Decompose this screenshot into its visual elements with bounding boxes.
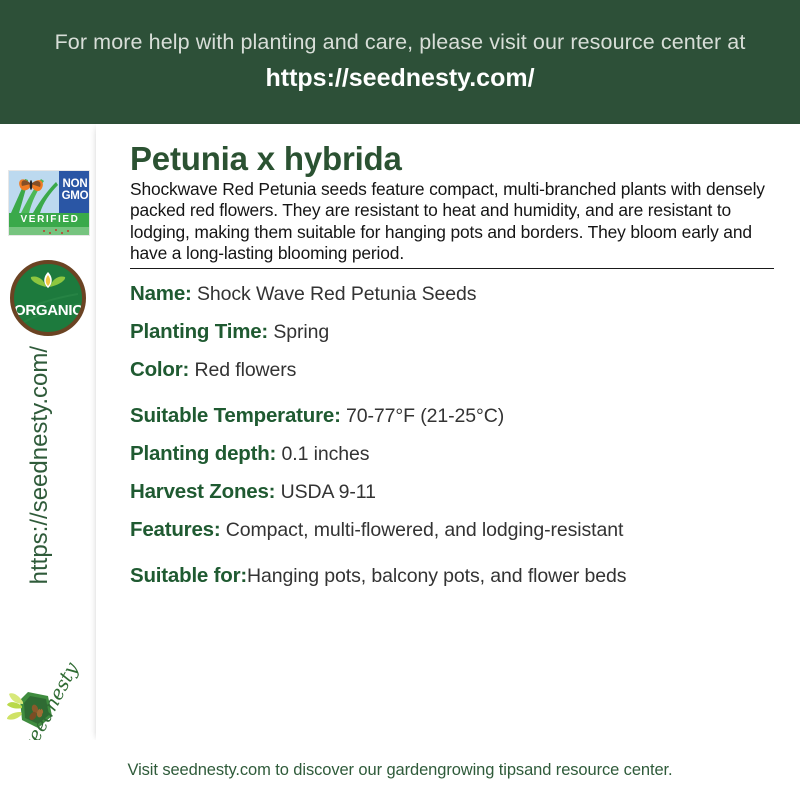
spec-value: Hanging pots, balcony pots, and flower b… (247, 565, 626, 587)
product-spec-list: Name: Shock Wave Red Petunia SeedsPlanti… (130, 282, 774, 588)
spec-value: Shock Wave Red Petunia Seeds (192, 283, 477, 305)
spec-label: Suitable Temperature: (130, 404, 341, 427)
spec-label: Harvest Zones: (130, 480, 275, 503)
spec-row: Planting depth: 0.1 inches (130, 442, 774, 466)
sidebar-vertical-url[interactable]: https://seednesty.com/ (26, 46, 54, 346)
spec-value: 70-77°F (21-25°C) (341, 405, 504, 427)
spec-label: Name: (130, 282, 192, 305)
sidebar-vertical-url-text: https://seednesty.com/ (26, 346, 54, 646)
non-gmo-line2: GMO (59, 191, 90, 203)
spec-row: Planting Time: Spring (130, 320, 774, 344)
spec-value: USDA 9-11 (275, 481, 376, 503)
spec-label: Features: (130, 518, 220, 541)
spec-value: 0.1 inches (276, 443, 369, 465)
spec-row: Name: Shock Wave Red Petunia Seeds (130, 282, 774, 306)
non-gmo-line1: NON (59, 179, 90, 191)
product-title: Petunia x hybrida (130, 142, 774, 177)
spec-label: Planting Time: (130, 320, 268, 343)
non-gmo-text-block: NON GMO (59, 171, 90, 213)
brand-logo: seednesty (4, 654, 96, 754)
spec-value: Red flowers (189, 359, 296, 381)
footer-text: Visit seednesty.com to discover our gard… (127, 761, 672, 780)
spec-value: Spring (268, 321, 329, 343)
spec-value: Compact, multi-flowered, and lodging-res… (220, 519, 623, 541)
spec-row: Harvest Zones: USDA 9-11 (130, 480, 774, 504)
footer-bar: Visit seednesty.com to discover our gard… (0, 740, 800, 800)
left-sidebar: NON GMO VERIFIED ORGANIC https://seednes… (0, 124, 96, 800)
product-description: Shockwave Red Petunia seeds feature comp… (130, 179, 774, 269)
header-banner: For more help with planting and care, pl… (0, 0, 800, 124)
spec-row: Suitable for:Hanging pots, balcony pots,… (130, 564, 774, 588)
spec-row: Suitable Temperature: 70-77°F (21-25°C) (130, 404, 774, 428)
spec-label: Color: (130, 358, 189, 381)
spec-label: Planting depth: (130, 442, 276, 465)
header-website-url[interactable]: https://seednesty.com/ (265, 62, 534, 95)
spec-row: Features: Compact, multi-flowered, and l… (130, 518, 774, 542)
spec-label: Suitable for: (130, 564, 247, 587)
header-help-text: For more help with planting and care, pl… (55, 29, 746, 56)
spec-row: Color: Red flowers (130, 358, 774, 382)
product-info-panel: Petunia x hybrida Shockwave Red Petunia … (96, 124, 800, 740)
